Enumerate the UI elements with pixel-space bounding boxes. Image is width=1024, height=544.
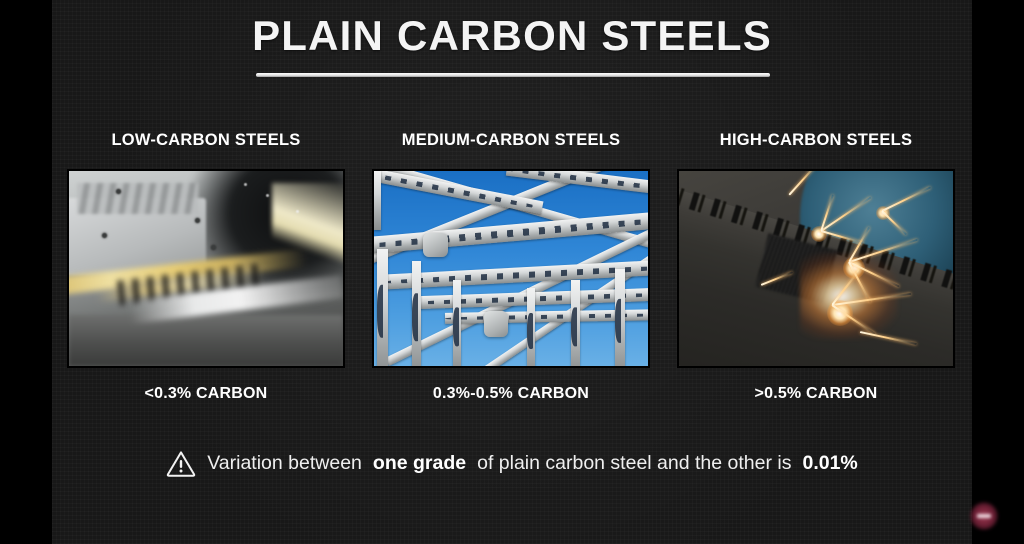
column-medium-carbon: MEDIUM-CARBON STEELS (372, 128, 650, 413)
column-high-carbon: HIGH-CARBON STEELS (677, 128, 955, 413)
column-header-high-carbon: HIGH-CARBON STEELS (720, 128, 912, 152)
column-low-carbon: LOW-CARBON STEELS (67, 128, 345, 413)
column-caption-medium-carbon: 0.3%-0.5% CARBON (433, 385, 589, 403)
footnote-text-part2: of plain carbon steel and the other is (477, 452, 791, 475)
column-caption-low-carbon: <0.3% CARBON (145, 385, 268, 403)
saw-blade-grinding-photo (677, 169, 955, 368)
footnote-emphasis-one-grade: one grade (373, 452, 466, 475)
page-title: PLAIN CARBON STEELS (52, 14, 972, 58)
title-underline-divider (256, 73, 770, 77)
footnote: Variation between one grade of plain car… (52, 450, 972, 477)
steel-bridge-truss-photo (372, 169, 650, 368)
column-header-low-carbon: LOW-CARBON STEELS (111, 128, 300, 152)
watermark-bar (977, 514, 991, 518)
slide-canvas: PLAIN CARBON STEELS LOW-CARBON STEELS (0, 0, 1024, 544)
letterbox-bar-right (972, 0, 1024, 544)
channel-logo-watermark (970, 502, 998, 530)
column-header-medium-carbon: MEDIUM-CARBON STEELS (402, 128, 621, 152)
car-body-chassis-photo (67, 169, 345, 368)
carbon-steel-columns: LOW-CARBON STEELS (67, 128, 955, 413)
letterbox-bar-left (0, 0, 52, 544)
footnote-emphasis-percentage: 0.01% (802, 452, 857, 475)
warning-triangle-icon (166, 450, 196, 477)
column-caption-high-carbon: >0.5% CARBON (755, 385, 878, 403)
footnote-text-part1: Variation between (207, 452, 362, 475)
